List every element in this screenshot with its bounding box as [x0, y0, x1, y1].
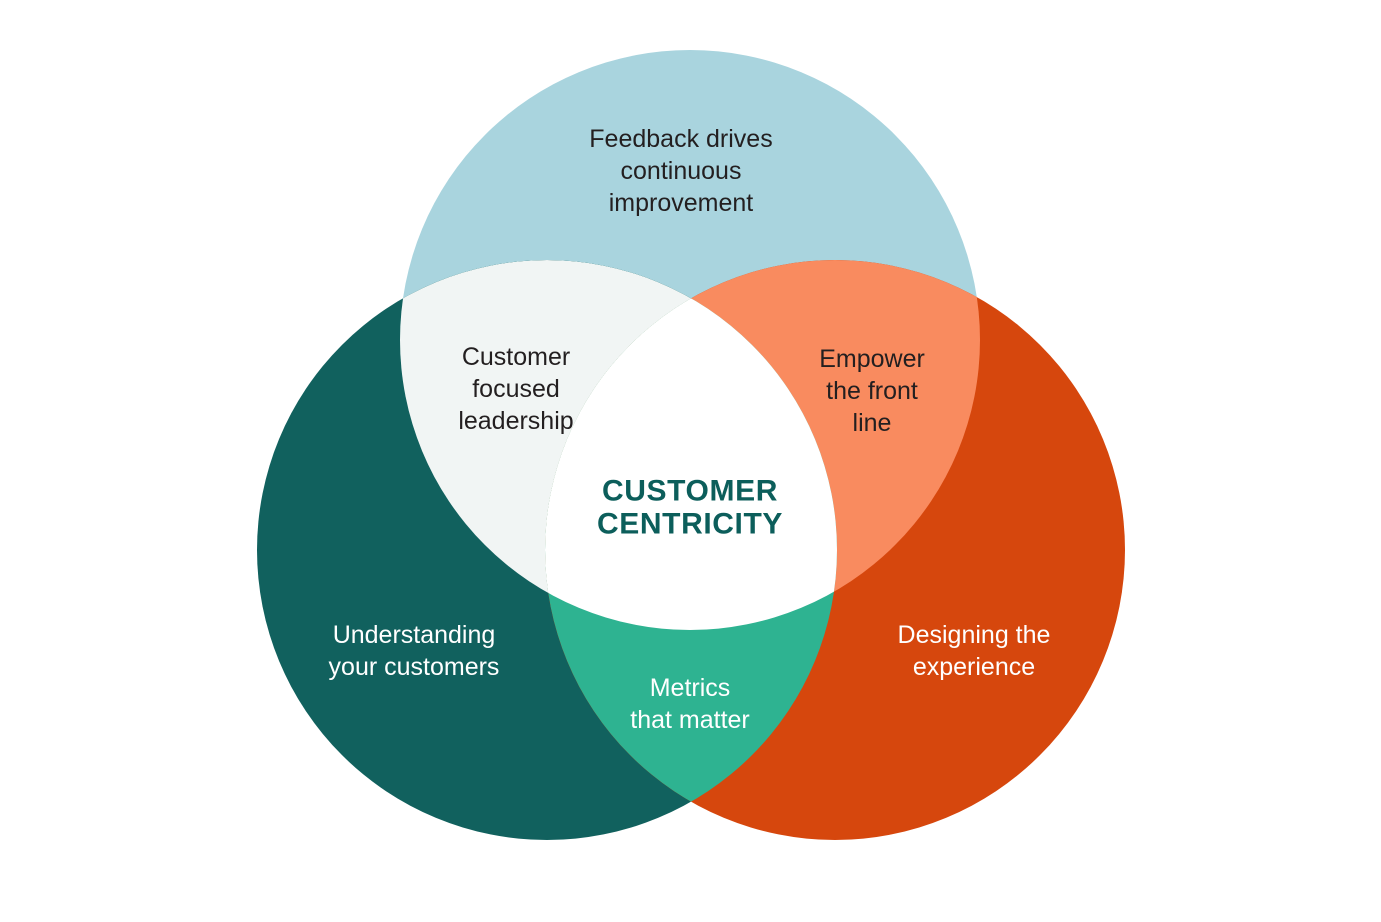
label-overlap-customer-focused-leadership: Customerfocusedleadership: [458, 343, 573, 435]
venn-diagram-svg: Feedback drivescontinuousimprovement Und…: [0, 0, 1381, 922]
label-center-customer-centricity: CUSTOMERCENTRICITY: [597, 474, 783, 540]
venn-diagram-canvas: Feedback drivescontinuousimprovement Und…: [0, 0, 1381, 922]
